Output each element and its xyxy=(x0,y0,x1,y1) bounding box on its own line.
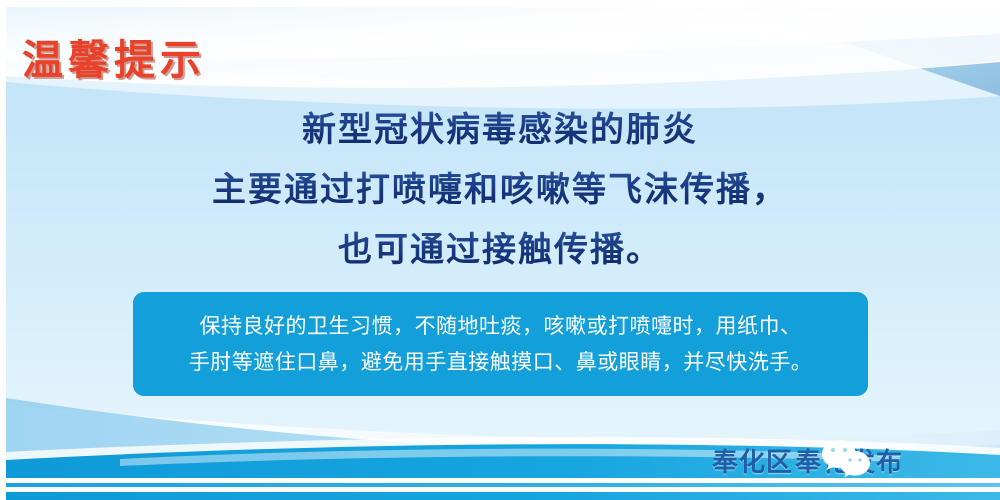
headline-block: 新型冠状病毒感染的肺炎 主要通过打喷嚏和咳嗽等飞沫传播， 也可通过接触传播。 xyxy=(0,100,1000,280)
footer-region-label: 奉化区 xyxy=(712,442,793,479)
advice-line-1: 保持良好的卫生习惯，不随地吐痰，咳嗽或打喷嚏时，用纸巾、 xyxy=(200,308,802,344)
headline-line-2: 主要通过打喷嚏和咳嗽等飞沫传播， xyxy=(0,160,1000,220)
footer-brand: 奉化区 奉化发布 xyxy=(712,440,903,480)
tip-title: 温馨提示 xyxy=(22,26,206,86)
poster-canvas: 温馨提示 新型冠状病毒感染的肺炎 主要通过打喷嚏和咳嗽等飞沫传播， 也可通过接触… xyxy=(0,0,1000,500)
headline-line-1: 新型冠状病毒感染的肺炎 xyxy=(0,100,1000,160)
advice-info-box: 保持良好的卫生习惯，不随地吐痰，咳嗽或打喷嚏时，用纸巾、 手肘等遮住口鼻，避免用… xyxy=(133,292,868,396)
advice-line-2: 手肘等遮住口鼻，避免用手直接触摸口、鼻或眼睛，并尽快洗手。 xyxy=(189,344,813,380)
wechat-icon xyxy=(820,437,874,481)
headline-line-3: 也可通过接触传播。 xyxy=(0,220,1000,280)
